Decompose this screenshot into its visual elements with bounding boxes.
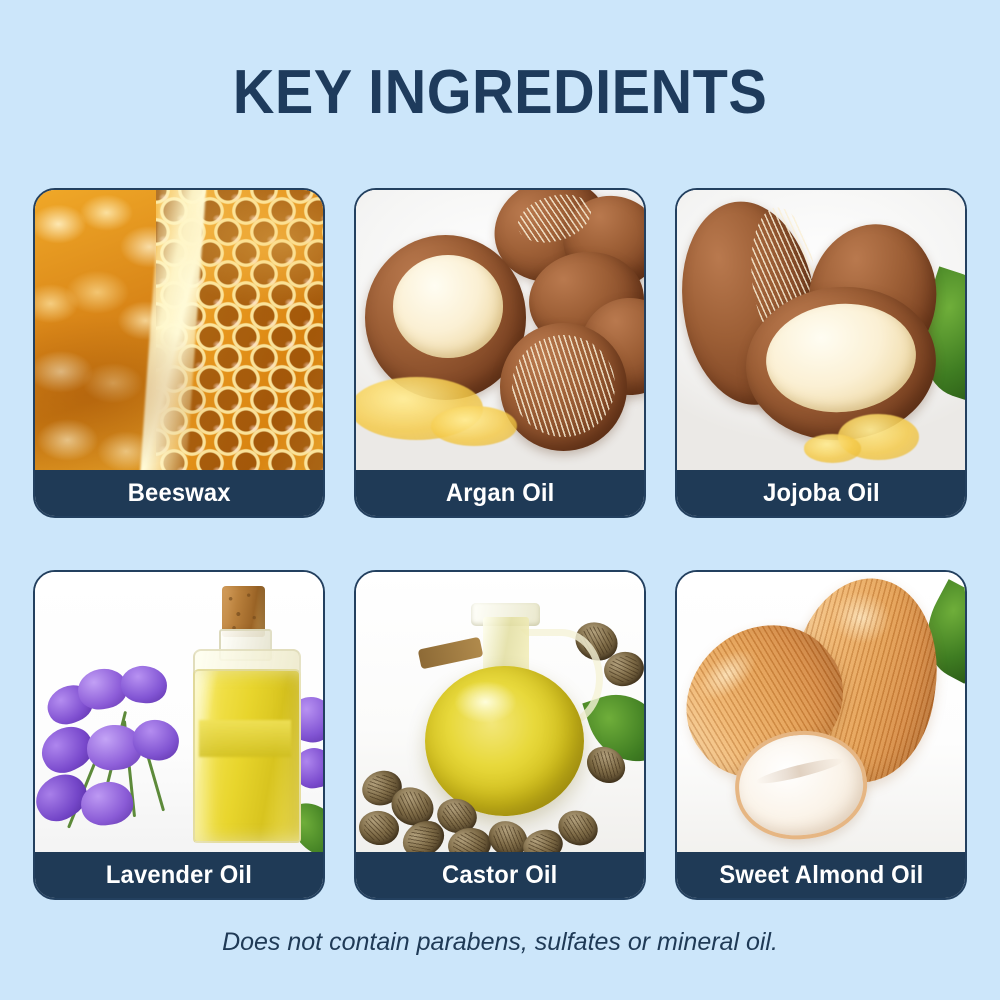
honeycomb-photo <box>35 190 323 474</box>
ingredient-label: Jojoba Oil <box>763 479 880 508</box>
ingredient-label-bar: Jojoba Oil <box>677 470 965 516</box>
ingredient-label: Sweet Almond Oil <box>719 861 923 890</box>
lavender-oil-bottle-photo <box>35 572 323 856</box>
ingredient-card-castor-oil[interactable]: Castor Oil <box>354 570 646 900</box>
ingredient-label-bar: Beeswax <box>35 470 323 516</box>
ingredient-card-beeswax[interactable]: Beeswax <box>33 188 325 518</box>
ingredient-label: Beeswax <box>127 479 230 508</box>
argan-nuts-photo <box>356 190 644 474</box>
ingredient-card-lavender-oil[interactable]: Lavender Oil <box>33 570 325 900</box>
almonds-photo <box>677 572 965 856</box>
argan-kernel <box>393 255 502 357</box>
carafe-spout <box>418 637 484 670</box>
ingredient-label: Argan Oil <box>446 479 555 508</box>
ingredient-grid: Beeswax <box>33 188 967 900</box>
ingredient-card-argan-oil[interactable]: Argan Oil <box>354 188 646 518</box>
page-title: KEY INGREDIENTS <box>35 62 965 124</box>
ingredient-card-sweet-almond-oil[interactable]: Sweet Almond Oil <box>675 570 967 900</box>
ingredients-infographic: KEY INGREDIENTS Beeswax <box>0 0 1000 1000</box>
ingredient-label: Castor Oil <box>442 861 557 890</box>
ingredient-label-bar: Lavender Oil <box>35 852 323 898</box>
jojoba-nuts-photo <box>677 190 965 474</box>
ingredient-label: Lavender Oil <box>106 861 252 890</box>
ingredient-label-bar: Castor Oil <box>356 852 644 898</box>
ingredient-label-bar: Argan Oil <box>356 470 644 516</box>
castor-oil-carafe-photo <box>356 572 644 856</box>
ingredient-label-bar: Sweet Almond Oil <box>677 852 965 898</box>
carafe-body <box>425 666 583 817</box>
ingredient-card-jojoba-oil[interactable]: Jojoba Oil <box>675 188 967 518</box>
footer-disclaimer: Does not contain parabens, sulfates or m… <box>0 928 1000 957</box>
